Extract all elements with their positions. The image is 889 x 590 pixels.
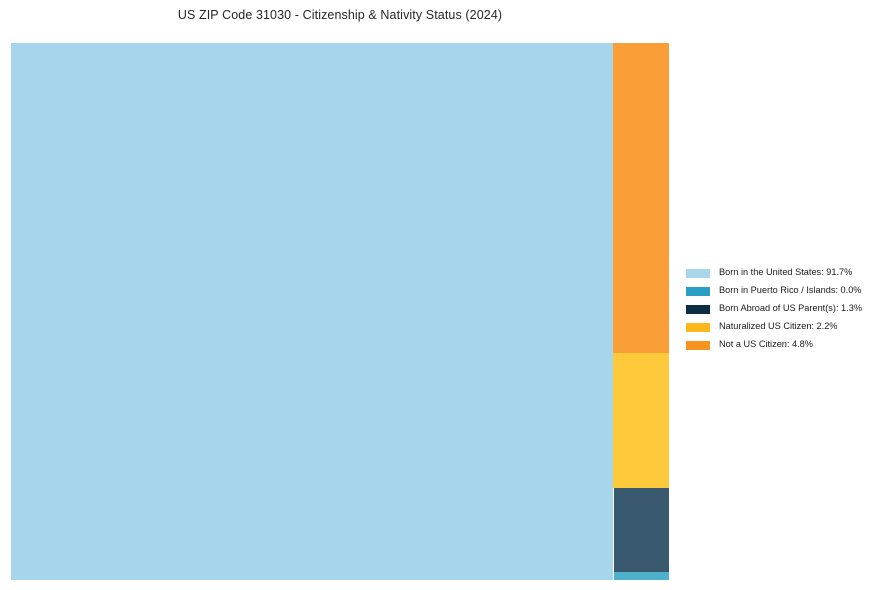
legend-color-swatch [686, 323, 710, 332]
legend-item[interactable]: Born Abroad of US Parent(s): 1.3% [686, 300, 881, 318]
legend-item[interactable]: Not a US Citizen: 4.8% [686, 336, 881, 354]
legend-item-label: Born in the United States: 91.7% [719, 268, 852, 277]
chart-legend: Born in the United States: 91.7% Born in… [686, 264, 881, 354]
legend-item[interactable]: Born in the United States: 91.7% [686, 264, 881, 282]
legend-color-swatch [686, 287, 710, 296]
legend-item-label: Not a US Citizen: 4.8% [719, 340, 813, 349]
treemap-tile-born-in-the-united-states[interactable] [11, 43, 613, 580]
treemap-tile-not-a-us-citizen[interactable] [613, 43, 669, 353]
legend-color-swatch [686, 341, 710, 350]
chart-figure: US ZIP Code 31030 - Citizenship & Nativi… [0, 0, 889, 590]
treemap-tile-born-abroad-of-us-parents[interactable] [614, 488, 669, 572]
treemap-plot-area [11, 43, 669, 580]
legend-item-label: Born Abroad of US Parent(s): 1.3% [719, 304, 862, 313]
legend-item-label: Naturalized US Citizen: 2.2% [719, 322, 837, 331]
legend-item[interactable]: Naturalized US Citizen: 2.2% [686, 318, 881, 336]
treemap-tile-born-in-puerto-rico-islands[interactable] [614, 572, 669, 580]
treemap-tile-naturalized-us-citizen[interactable] [613, 353, 669, 488]
legend-color-swatch [686, 305, 710, 314]
page-title: US ZIP Code 31030 - Citizenship & Nativi… [0, 8, 680, 22]
legend-color-swatch [686, 269, 710, 278]
legend-item-label: Born in Puerto Rico / Islands: 0.0% [719, 286, 861, 295]
legend-item[interactable]: Born in Puerto Rico / Islands: 0.0% [686, 282, 881, 300]
